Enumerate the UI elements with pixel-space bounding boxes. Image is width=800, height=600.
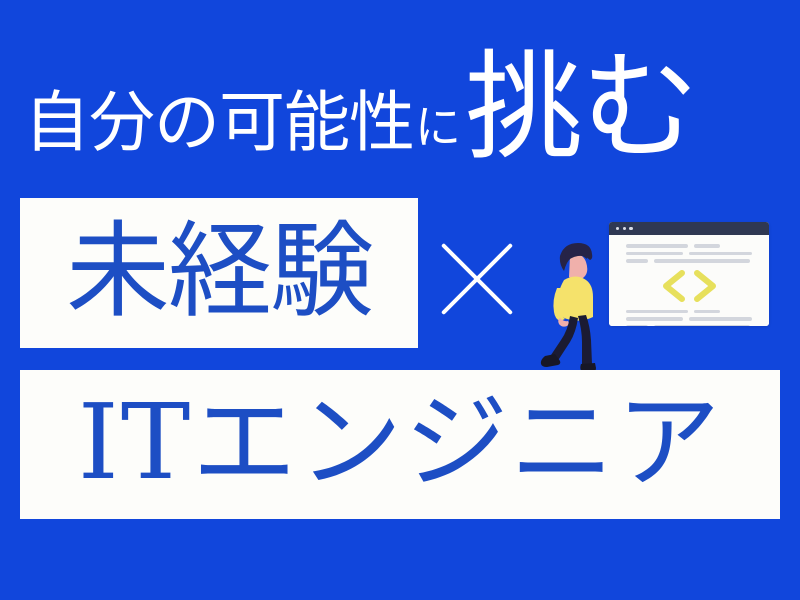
headline: 自分の可能性 に 挑む <box>24 48 784 176</box>
window-dot-icon <box>629 227 632 230</box>
window-body <box>609 235 769 326</box>
window-titlebar <box>609 222 769 235</box>
plate-it-engineer-label: ITエンジニア <box>78 390 722 494</box>
cross-icon <box>441 243 513 315</box>
plate-inexperienced: 未経験 <box>20 198 418 348</box>
code-lines-top <box>626 244 752 263</box>
plate-it-engineer: ITエンジニア <box>20 370 780 519</box>
headline-particle-text: に <box>415 104 461 150</box>
window-dot-icon <box>623 227 626 230</box>
recruitment-banner: 自分の可能性 に 挑む 未経験 <box>0 0 800 600</box>
walking-person-illustration <box>540 236 618 376</box>
code-lines-bottom <box>626 310 752 326</box>
window-dot-icon <box>616 227 619 230</box>
code-chevrons-icon <box>626 270 752 302</box>
code-browser-window <box>609 222 769 326</box>
headline-emphasis-text: 挑む <box>465 48 697 166</box>
plate-inexperienced-label: 未経験 <box>66 219 372 323</box>
headline-lead-text: 自分の可能性 <box>24 90 414 156</box>
